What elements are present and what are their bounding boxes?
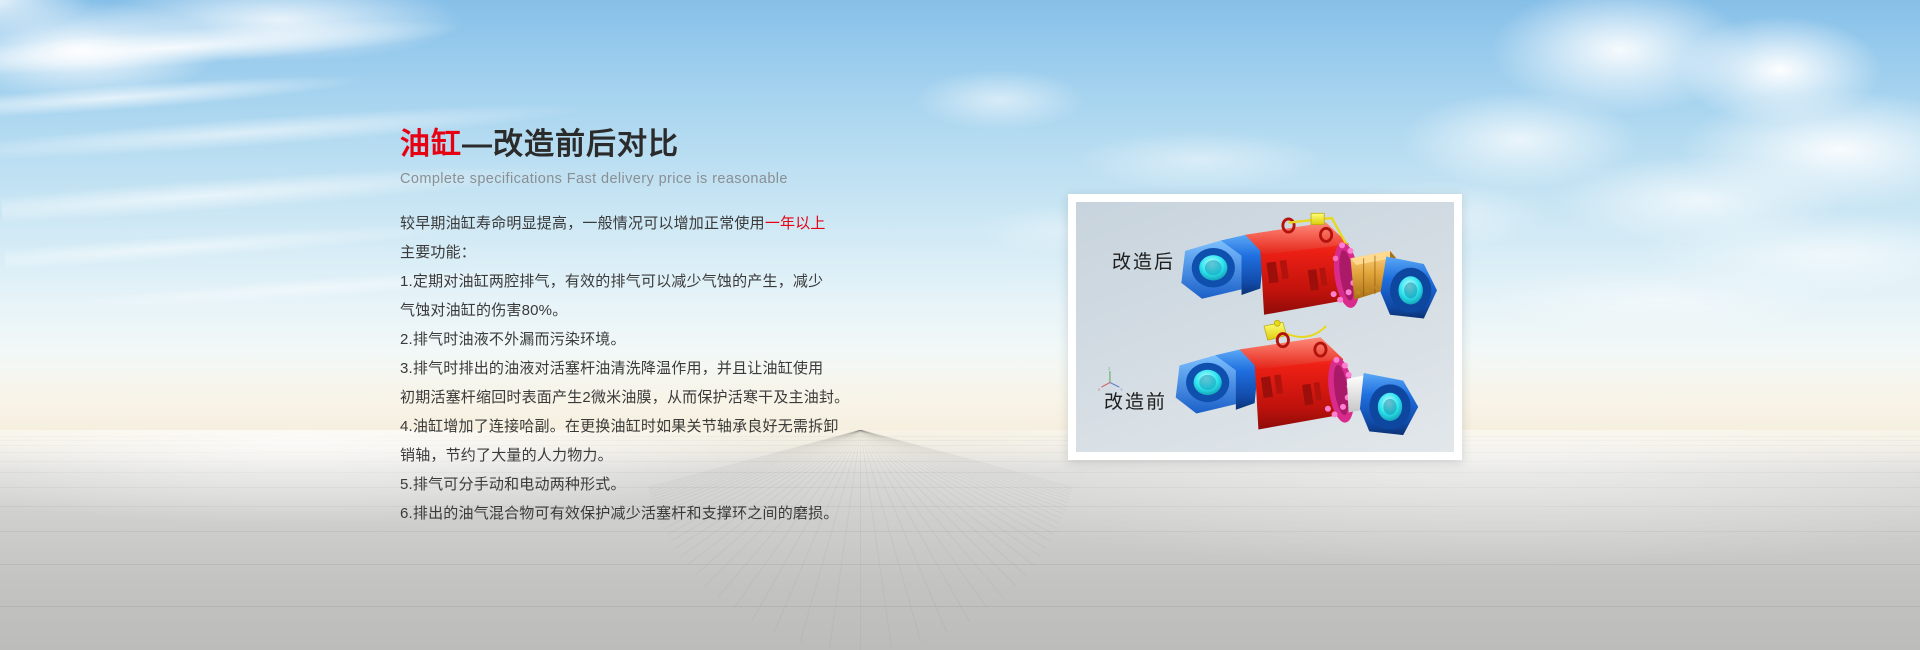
feature-line-10: 5.排气可分手动和电动两种形式。 xyxy=(400,470,960,499)
front-rod-eye-before xyxy=(1360,373,1418,435)
ground-horizontal-line xyxy=(0,436,1920,437)
page-title: 油缸—改造前后对比 xyxy=(400,128,960,163)
feature-line-7: 初期活塞杆缩回时表面产生2微米油膜，从而保护活寒干及主油封。 xyxy=(400,383,960,412)
feature-line-3: 1.定期对油缸两腔排气，有效的排气可以减少气蚀的产生，减少 xyxy=(400,267,960,296)
ground-horizontal-line xyxy=(0,452,1920,453)
label-before-modification: 改造前 xyxy=(1104,387,1167,414)
banner-text-content: 油缸—改造前后对比 Complete specifications Fast d… xyxy=(400,128,960,528)
hero-banner: 油缸—改造前后对比 Complete specifications Fast d… xyxy=(0,0,1920,650)
feature-line-1-text: 较早期油缸寿命明显提高，一般情况可以增加正常使用 xyxy=(400,215,765,232)
feature-line-5: 2.排气时油液不外漏而污染环境。 xyxy=(400,325,960,354)
cylinder-after-modification xyxy=(1181,213,1437,340)
ground-horizontal-line xyxy=(0,440,1920,441)
label-after-modification: 改造后 xyxy=(1112,247,1175,274)
svg-text:Z: Z xyxy=(1108,367,1111,371)
page-subtitle: Complete specifications Fast delivery pr… xyxy=(400,171,960,187)
product-comparison-panel: Z X Y 改造后 改造前 xyxy=(1068,194,1462,460)
svg-text:X: X xyxy=(1098,388,1101,392)
feature-line-4: 气蚀对油缸的伤害80%。 xyxy=(400,296,960,325)
feature-line-1-emphasis: 一年以上 xyxy=(765,215,826,232)
cylinder-before-modification xyxy=(1176,334,1418,436)
hydraulic-cylinder-cad-illustration: Z X Y xyxy=(1076,202,1454,452)
manual-bleed-valve xyxy=(1264,320,1326,340)
feature-list: 较早期油缸寿命明显提高，一般情况可以增加正常使用一年以上 主要功能： 1.定期对… xyxy=(400,209,960,528)
ground-grid-lines xyxy=(0,430,1920,650)
front-rod-eye-after xyxy=(1381,257,1437,319)
page-title-highlight: 油缸 xyxy=(400,128,462,161)
feature-line-11: 6.排出的油气混合物可有效保护减少活塞杆和支撑环之间的磨损。 xyxy=(400,499,960,528)
feature-line-8: 4.油缸增加了连接哈副。在更换油缸时如果关节轴承良好无需拆卸 xyxy=(400,412,960,441)
ground-horizontal-line xyxy=(0,564,1920,565)
ground-horizontal-line xyxy=(0,445,1920,446)
paved-ground xyxy=(0,430,1920,650)
feature-line-6: 3.排气时排出的油液对活塞杆油清洗降温作用，并且让油缸使用 xyxy=(400,354,960,383)
feature-line-2: 主要功能： xyxy=(400,238,960,267)
feature-line-1: 较早期油缸寿命明显提高，一般情况可以增加正常使用一年以上 xyxy=(400,209,960,238)
page-title-rest: —改造前后对比 xyxy=(462,128,679,161)
feature-line-9: 销轴，节约了大量的人力物力。 xyxy=(400,441,960,470)
